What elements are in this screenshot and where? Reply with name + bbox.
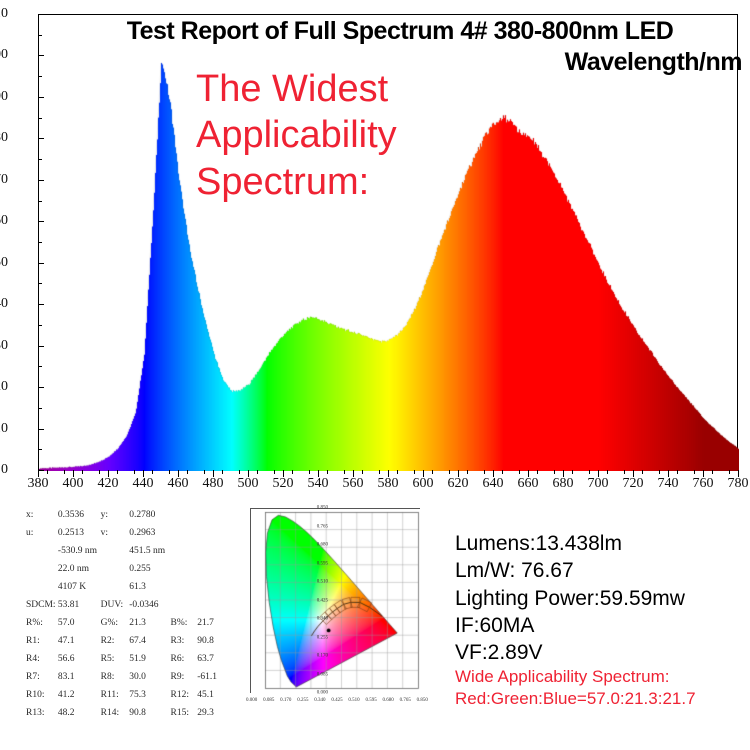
- measurement-label: R1:: [26, 632, 58, 650]
- cie-x-tick-label: 0.425: [331, 698, 342, 703]
- x-axis-minor-tick: [467, 470, 468, 474]
- measurement-value: 21.3: [129, 614, 170, 632]
- measurement-value: 0.2780: [129, 506, 170, 524]
- y-axis-minor-tick: [38, 76, 42, 77]
- measurement-value: 47.1: [58, 632, 101, 650]
- x-axis-minor-tick: [99, 470, 100, 474]
- x-axis-tick-label: 620: [448, 476, 469, 492]
- x-axis-minor-tick: [187, 470, 188, 474]
- overlay-annotation-line: The Widest: [196, 66, 397, 112]
- table-row: R7:83.1R8:30.0R9:-61.1: [26, 668, 231, 686]
- x-axis-label: Wavelength/nm: [60, 48, 742, 77]
- measurement-label: v:: [101, 524, 130, 542]
- measurement-label: R13:: [26, 704, 58, 722]
- measurement-label: R6:: [171, 650, 198, 668]
- measurement-label: [171, 560, 198, 578]
- measurement-value: 45.1: [197, 686, 231, 704]
- x-axis-minor-tick: [624, 470, 625, 474]
- table-row: R4:56.6R5:51.9R6:63.7: [26, 650, 231, 668]
- measurement-value: 53.81: [58, 596, 101, 614]
- overlay-annotation: The WidestApplicabilitySpectrum:: [196, 66, 397, 205]
- measurement-value: 21.7: [197, 614, 231, 632]
- cie-x-tick-label: 0.850: [417, 698, 428, 703]
- measurement-value: [197, 506, 231, 524]
- y-axis-tick-label: 30: [0, 338, 8, 354]
- x-axis-minor-tick: [239, 470, 240, 474]
- y-axis-minor-tick: [38, 118, 42, 119]
- measurement-label: DUV:: [101, 596, 130, 614]
- spectrum-chart-panel: 0102030405060708090100110 38040042044046…: [0, 0, 750, 500]
- y-axis-minor-tick: [38, 201, 42, 202]
- x-axis-tick-label: 480: [203, 476, 224, 492]
- cie-y-tick-label: 0.000: [306, 691, 328, 696]
- measurement-label: R10:: [26, 686, 58, 704]
- x-axis-minor-tick: [589, 470, 590, 474]
- measurement-value: 90.8: [129, 704, 170, 722]
- x-axis-tick-label: 760: [693, 476, 714, 492]
- y-axis-tick: [38, 263, 44, 264]
- x-axis-tick-label: 440: [133, 476, 154, 492]
- x-axis-minor-tick: [519, 470, 520, 474]
- table-row: x:0.3536y:0.2780: [26, 506, 231, 524]
- x-axis-tick-label: 740: [658, 476, 679, 492]
- measurement-label: [26, 560, 58, 578]
- x-axis-minor-tick: [502, 470, 503, 474]
- y-axis-tick: [38, 180, 44, 181]
- y-axis-tick: [38, 97, 44, 98]
- measurement-label: [101, 560, 130, 578]
- y-axis-tick: [38, 55, 44, 56]
- x-axis-minor-tick: [694, 470, 695, 474]
- measurement-value: 56.6: [58, 650, 101, 668]
- x-axis-minor-tick: [432, 470, 433, 474]
- table-row: -530.9 nm451.5 nm: [26, 542, 231, 560]
- measurement-label: y:: [101, 506, 130, 524]
- table-row: u:0.2513v:0.2963: [26, 524, 231, 542]
- x-axis-minor-tick: [414, 470, 415, 474]
- y-axis-tick-label: 10: [0, 421, 8, 437]
- y-axis-tick-label: 100: [0, 47, 8, 63]
- x-axis-tick-label: 460: [168, 476, 189, 492]
- y-axis-minor-tick: [38, 35, 42, 36]
- table-row: 22.0 nm0.255: [26, 560, 231, 578]
- cie-y-tick-label: 0.255: [306, 635, 328, 640]
- x-axis-minor-tick: [134, 470, 135, 474]
- x-axis-minor-tick: [659, 470, 660, 474]
- x-axis-minor-tick: [169, 470, 170, 474]
- y-axis-tick: [38, 429, 44, 430]
- x-axis-tick-label: 400: [63, 476, 84, 492]
- y-axis-tick-label: 70: [0, 172, 8, 188]
- measurement-value: [197, 524, 231, 542]
- table-row: R%:57.0G%:21.3B%:21.7: [26, 614, 231, 632]
- measurement-label: [26, 578, 58, 596]
- y-axis-tick-label: 20: [0, 379, 8, 395]
- table-row: R10:41.2R11:75.3R12:45.1: [26, 686, 231, 704]
- measurement-label: R14:: [101, 704, 130, 722]
- x-axis-tick-label: 600: [413, 476, 434, 492]
- measurement-label: [171, 578, 198, 596]
- measurement-value: 41.2: [58, 686, 101, 704]
- measurement-label: R15:: [171, 704, 198, 722]
- measurement-value: 61.3: [129, 578, 170, 596]
- page-title: Test Report of Full Spectrum 4# 380-800n…: [60, 18, 740, 45]
- measurement-label: R11:: [101, 686, 130, 704]
- measurement-value: -0.0346: [129, 596, 170, 614]
- x-axis-minor-tick: [712, 470, 713, 474]
- lumens-value: Lumens:13.438lm: [455, 530, 747, 557]
- measurement-value: 83.1: [58, 668, 101, 686]
- measurement-value: 30.0: [129, 668, 170, 686]
- cie-canvas: [251, 509, 421, 694]
- x-axis-tick-label: 520: [273, 476, 294, 492]
- measurement-value: 29.3: [197, 704, 231, 722]
- y-axis-tick-label: 50: [0, 255, 8, 271]
- measurement-value: 51.9: [129, 650, 170, 668]
- x-axis-tick-label: 720: [623, 476, 644, 492]
- cie-x-tick-label: 0.340: [314, 698, 325, 703]
- measurement-value: 48.2: [58, 704, 101, 722]
- y-axis-tick: [38, 138, 44, 139]
- measurement-value: 0.3536: [58, 506, 101, 524]
- measurement-value: [197, 542, 231, 560]
- x-axis-minor-tick: [309, 470, 310, 474]
- x-axis-minor-tick: [204, 470, 205, 474]
- lower-section: x:0.3536y:0.2780u:0.2513v:0.2963-530.9 n…: [0, 500, 750, 750]
- measurement-label: [171, 524, 198, 542]
- measurement-label: R3:: [171, 632, 198, 650]
- measurement-label: x:: [26, 506, 58, 524]
- cie-y-tick-label: 0.850: [306, 506, 328, 511]
- table-row: R1:47.1R2:67.4R3:90.8: [26, 632, 231, 650]
- measurement-table: x:0.3536y:0.2780u:0.2513v:0.2963-530.9 n…: [26, 506, 231, 722]
- x-axis-tick-label: 660: [518, 476, 539, 492]
- measurement-label: B%:: [171, 614, 198, 632]
- overlay-annotation-line: Applicability: [196, 112, 397, 158]
- y-axis-tick-label: 90: [0, 89, 8, 105]
- measurement-value: 75.3: [129, 686, 170, 704]
- y-axis-tick: [38, 304, 44, 305]
- y-axis-tick: [38, 221, 44, 222]
- measurement-label: [171, 596, 198, 614]
- x-axis-minor-tick: [64, 470, 65, 474]
- y-axis-minor-tick: [38, 325, 42, 326]
- cie-y-tick-label: 0.425: [306, 598, 328, 603]
- measurement-label: [101, 578, 130, 596]
- x-axis-minor-tick: [677, 470, 678, 474]
- cie-x-tick-label: 0.765: [400, 698, 411, 703]
- measurement-value: [197, 560, 231, 578]
- x-axis-tick-label: 580: [378, 476, 399, 492]
- x-axis-tick-label: 500: [238, 476, 259, 492]
- measurement-label: [171, 542, 198, 560]
- measurement-value: [197, 578, 231, 596]
- x-axis-minor-tick: [327, 470, 328, 474]
- cie-y-tick-label: 0.510: [306, 580, 328, 585]
- measurement-value: 0.2963: [129, 524, 170, 542]
- y-axis-tick-label: 60: [0, 213, 8, 229]
- measurement-label: R4:: [26, 650, 58, 668]
- x-axis-minor-tick: [554, 470, 555, 474]
- y-axis-minor-tick: [38, 366, 42, 367]
- measurement-label: R5:: [101, 650, 130, 668]
- x-axis-tick-label: 420: [98, 476, 119, 492]
- measurement-value: 22.0 nm: [58, 560, 101, 578]
- measurement-label: G%:: [101, 614, 130, 632]
- x-axis-minor-tick: [449, 470, 450, 474]
- overlay-annotation-line: Spectrum:: [196, 159, 397, 205]
- x-axis-minor-tick: [47, 470, 48, 474]
- measurement-label: u:: [26, 524, 58, 542]
- measurement-value: 0.2513: [58, 524, 101, 542]
- measurement-value: 0.255: [129, 560, 170, 578]
- cie-x-tick-label: 0.000: [246, 698, 257, 703]
- cie-y-tick-label: 0.765: [306, 524, 328, 529]
- forward-current-value: IF:60MA: [455, 612, 747, 639]
- wide-spectrum-title: Wide Applicability Spectrum:: [455, 666, 747, 687]
- cie-y-tick-label: 0.595: [306, 561, 328, 566]
- x-axis-minor-tick: [274, 470, 275, 474]
- measurement-label: R7:: [26, 668, 58, 686]
- x-axis-tick-label: 640: [483, 476, 504, 492]
- cie-x-axis-labels: 0.0000.0850.1700.2550.3400.4250.5100.595…: [246, 698, 428, 703]
- measurement-value: 451.5 nm: [129, 542, 170, 560]
- cie-y-tick-label: 0.340: [306, 617, 328, 622]
- x-axis-minor-tick: [117, 470, 118, 474]
- measurement-value: 90.8: [197, 632, 231, 650]
- cie-x-tick-label: 0.255: [297, 698, 308, 703]
- x-axis-tick-label: 380: [28, 476, 49, 492]
- x-axis-tick-label: 780: [728, 476, 749, 492]
- measurement-label: [171, 506, 198, 524]
- measurement-value: -61.1: [197, 668, 231, 686]
- y-axis-minor-tick: [38, 449, 42, 450]
- measurement-label: SDCM:: [26, 596, 58, 614]
- measurement-label: R8:: [101, 668, 130, 686]
- x-axis-minor-tick: [257, 470, 258, 474]
- x-axis-tick-label: 540: [308, 476, 329, 492]
- measurement-readout: Lumens:13.438lm Lm/W: 76.67 Lighting Pow…: [455, 530, 747, 709]
- y-axis-minor-tick: [38, 283, 42, 284]
- y-axis-tick-label: 80: [0, 130, 8, 146]
- x-axis-minor-tick: [344, 470, 345, 474]
- table-row: SDCM:53.81DUV:-0.0346: [26, 596, 231, 614]
- x-axis-minor-tick: [362, 470, 363, 474]
- measurement-label: R2:: [101, 632, 130, 650]
- y-axis-tick-label: 110: [0, 6, 8, 22]
- rgb-ratio-value: Red:Green:Blue=57.0:21.3:21.7: [455, 688, 747, 709]
- cie-x-tick-label: 0.170: [280, 698, 291, 703]
- measurement-value: 67.4: [129, 632, 170, 650]
- x-axis-minor-tick: [292, 470, 293, 474]
- y-axis-minor-tick: [38, 242, 42, 243]
- cie-x-tick-label: 0.510: [348, 698, 359, 703]
- y-axis-minor-tick: [38, 408, 42, 409]
- measurement-label: R%:: [26, 614, 58, 632]
- x-axis-minor-tick: [607, 470, 608, 474]
- y-axis-tick: [38, 14, 44, 15]
- x-axis-tick-label: 700: [588, 476, 609, 492]
- forward-voltage-value: VF:2.89V: [455, 639, 747, 666]
- y-axis-minor-tick: [38, 159, 42, 160]
- x-axis-minor-tick: [82, 470, 83, 474]
- cie-x-tick-label: 0.680: [383, 698, 394, 703]
- measurement-value: 4107 K: [58, 578, 101, 596]
- measurement-label: R9:: [171, 668, 198, 686]
- lighting-power-value: Lighting Power:59.59mw: [455, 585, 747, 612]
- x-axis-minor-tick: [537, 470, 538, 474]
- measurement-value: -530.9 nm: [58, 542, 101, 560]
- cie-x-tick-label: 0.595: [365, 698, 376, 703]
- cie-y-tick-label: 0.170: [306, 654, 328, 659]
- y-axis-tick-label: 40: [0, 296, 8, 312]
- measurement-label: R12:: [171, 686, 198, 704]
- measurement-label: [26, 542, 58, 560]
- cie-y-tick-label: 0.680: [306, 543, 328, 548]
- measurement-label: [101, 542, 130, 560]
- table-row: R13:48.2R14:90.8R15:29.3: [26, 704, 231, 722]
- efficacy-value: Lm/W: 76.67: [455, 557, 747, 584]
- cie-y-tick-label: 0.085: [306, 672, 328, 677]
- y-axis-tick-label: 0: [0, 462, 8, 478]
- x-axis-tick-label: 560: [343, 476, 364, 492]
- x-axis-minor-tick: [379, 470, 380, 474]
- x-axis-minor-tick: [642, 470, 643, 474]
- x-axis-minor-tick: [222, 470, 223, 474]
- table-row: 4107 K61.3: [26, 578, 231, 596]
- x-axis-minor-tick: [152, 470, 153, 474]
- measurement-value: 57.0: [58, 614, 101, 632]
- measurement-value: 63.7: [197, 650, 231, 668]
- cie-chromaticity-diagram: [250, 508, 420, 693]
- x-axis-tick-label: 680: [553, 476, 574, 492]
- cie-x-tick-label: 0.085: [263, 698, 274, 703]
- measurement-value: [197, 596, 231, 614]
- x-axis-minor-tick: [729, 470, 730, 474]
- y-axis-tick: [38, 346, 44, 347]
- x-axis-minor-tick: [572, 470, 573, 474]
- x-axis-minor-tick: [484, 470, 485, 474]
- y-axis-tick: [38, 387, 44, 388]
- x-axis-minor-tick: [397, 470, 398, 474]
